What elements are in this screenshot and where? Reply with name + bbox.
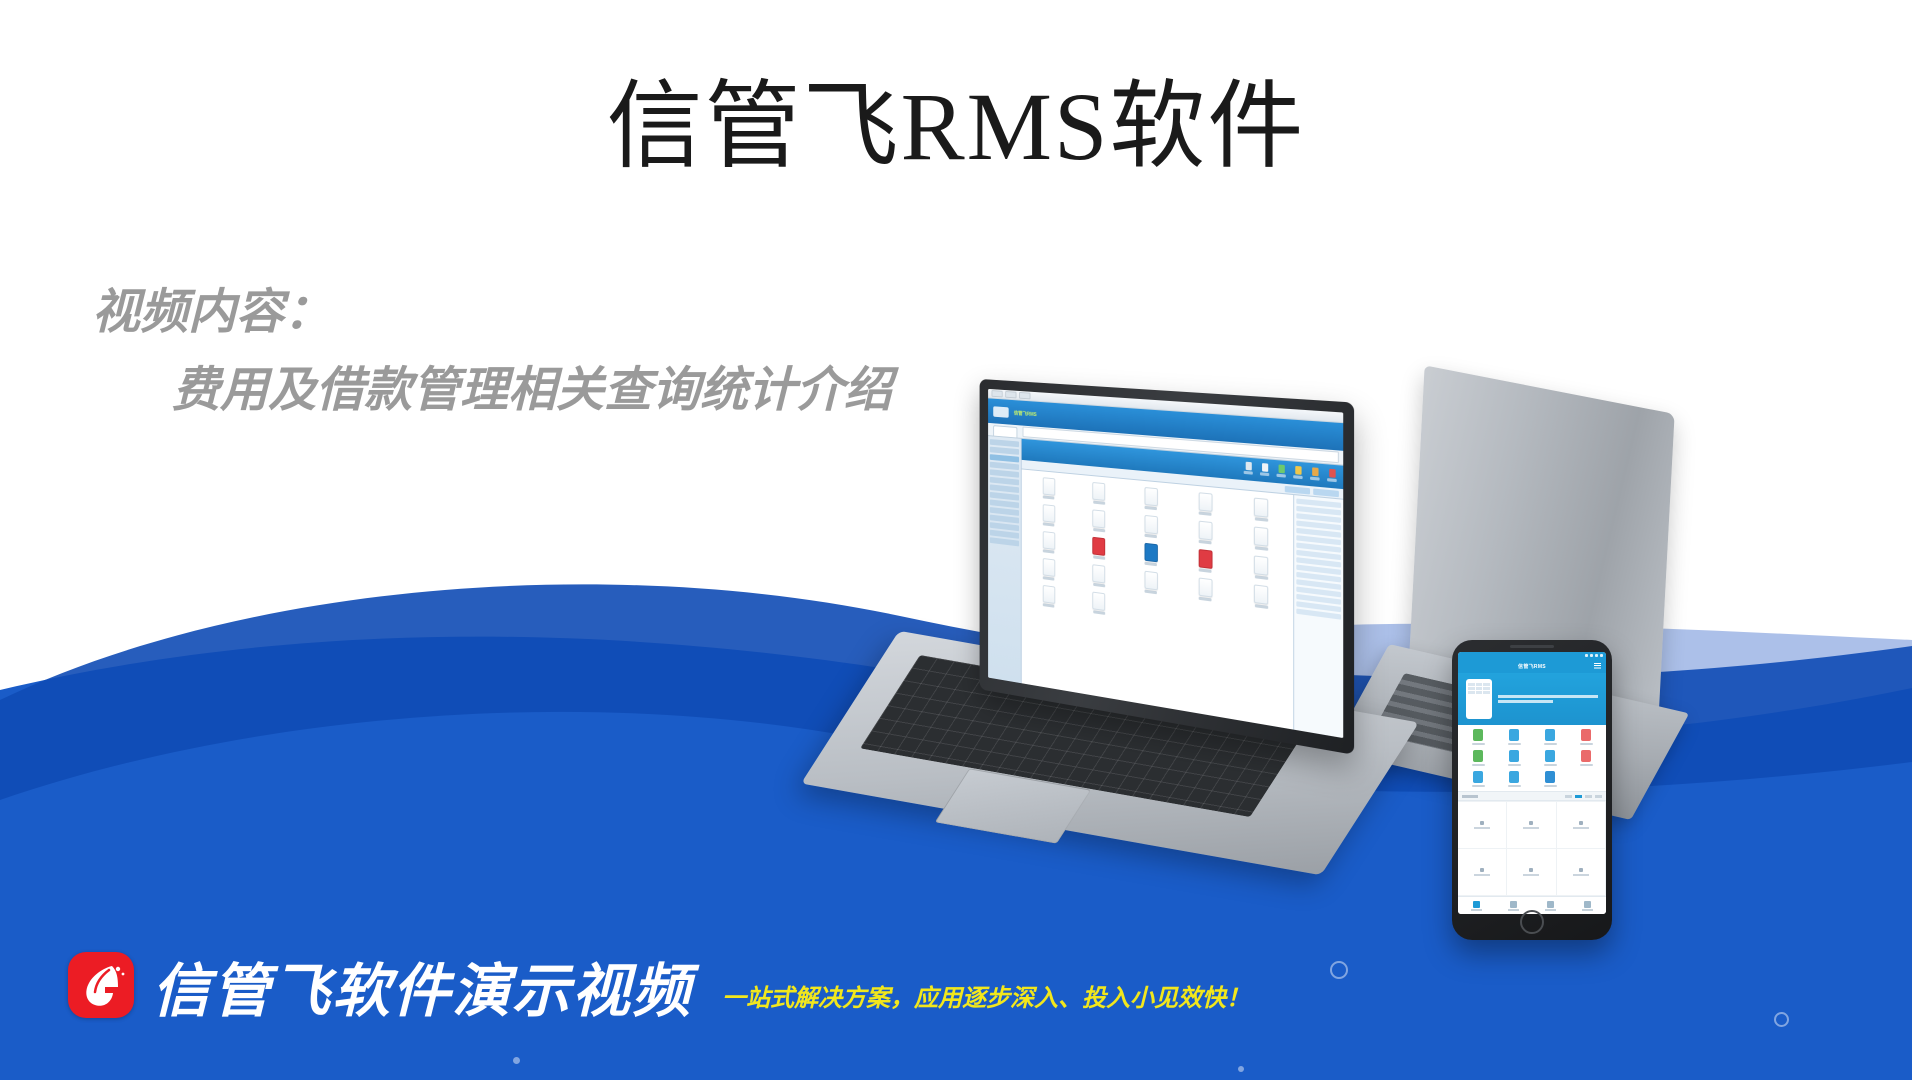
grid-icon-item[interactable] (1127, 485, 1176, 512)
phone-section-header (1458, 791, 1606, 801)
phone-earpiece (1510, 645, 1554, 648)
toolbar-button[interactable] (1244, 461, 1253, 477)
grid-icon-item[interactable] (1180, 519, 1231, 547)
subtitle-label: 视频内容： (92, 280, 892, 344)
grid-icon-item[interactable] (1235, 524, 1288, 553)
toolbar-button[interactable] (1310, 467, 1320, 484)
hamburger-icon[interactable] (1594, 663, 1601, 669)
stat-cell[interactable] (1557, 802, 1606, 849)
app-tab[interactable] (993, 425, 1017, 437)
app-logo-icon (993, 406, 1008, 418)
phone-status-bar (1458, 652, 1606, 659)
phone-icon-grid[interactable] (1458, 725, 1606, 791)
grid-icon-item[interactable] (1076, 508, 1123, 535)
phone-grid-item[interactable] (1497, 771, 1531, 787)
section-title (1462, 795, 1478, 798)
stat-cell[interactable] (1507, 849, 1556, 896)
phone-nav-bar: 信管飞RMS (1458, 659, 1606, 673)
wifi-icon (1590, 654, 1593, 657)
bluetooth-icon (1585, 654, 1588, 657)
phone-device: 信管飞RMS (1452, 640, 1612, 940)
phone-app-title: 信管飞RMS (1518, 663, 1546, 670)
app-icon-grid[interactable] (1022, 469, 1293, 729)
phone-grid-item[interactable] (1461, 729, 1495, 745)
filter-tab[interactable] (1595, 795, 1602, 798)
menu-chip (1005, 391, 1016, 398)
section-filter-tabs[interactable] (1565, 795, 1602, 798)
grid-icon-item[interactable] (1235, 496, 1288, 524)
decor-dot (1774, 1012, 1789, 1027)
laptop-screen: 信管飞RMS (988, 389, 1343, 738)
slide-title: 信管飞RMS软件 (0, 72, 1912, 182)
filter-tab[interactable] (1565, 795, 1572, 798)
stat-cell[interactable] (1458, 802, 1507, 849)
stat-cell[interactable] (1507, 802, 1556, 849)
brand-tagline: 一站式解决方案，应用逐步深入、投入小见效快！ (722, 984, 1250, 1012)
battery-icon (1600, 654, 1603, 657)
app-left-nav[interactable] (988, 436, 1022, 683)
banner-keypad (1468, 683, 1490, 694)
grid-icon-item[interactable] (1076, 589, 1123, 617)
banner-text-lines (1498, 695, 1598, 703)
grid-icon-item[interactable] (1076, 480, 1123, 506)
grid-icon-item[interactable] (1026, 583, 1072, 611)
desktop-app-window: 信管飞RMS (988, 389, 1343, 738)
app-header-title: 信管飞RMS (1014, 409, 1037, 417)
toolbar-button[interactable] (1293, 465, 1302, 482)
phone-grid-item[interactable] (1497, 750, 1531, 766)
phone-grid-item[interactable] (1461, 750, 1495, 766)
app-right-panel[interactable] (1293, 495, 1343, 738)
phone-banner (1458, 673, 1606, 725)
sub-tab[interactable] (1313, 488, 1339, 497)
phone-home-button[interactable] (1520, 910, 1544, 934)
toolbar-button[interactable] (1260, 462, 1269, 478)
grid-icon-item[interactable] (1026, 476, 1072, 502)
presentation-slide: 信管飞RMS软件 视频内容： 费用及借款管理相关查询统计介绍 (0, 0, 1912, 1080)
brand-name: 信管飞软件演示视频 (152, 960, 692, 1022)
phone-grid-item[interactable] (1497, 729, 1531, 745)
phone-stats-grid[interactable] (1458, 801, 1606, 896)
grid-icon-item[interactable] (1127, 513, 1176, 540)
grid-icon-item-highlight[interactable] (1180, 547, 1231, 575)
devices-illustration: 信管飞RMS (860, 372, 1912, 932)
decor-dot (513, 1057, 520, 1064)
grid-icon-item[interactable] (1180, 575, 1231, 604)
nav-item[interactable] (990, 537, 1019, 546)
app-body (988, 436, 1343, 738)
phone-grid-item[interactable] (1533, 750, 1567, 766)
stat-cell[interactable] (1557, 849, 1606, 896)
grid-icon-item[interactable] (1026, 502, 1072, 528)
filter-tab-active[interactable] (1575, 795, 1582, 798)
grid-icon-item[interactable] (1235, 553, 1288, 582)
laptop-lid: 信管飞RMS (980, 379, 1354, 755)
app-main-area (1022, 439, 1344, 738)
grid-icon-item[interactable] (1127, 568, 1176, 596)
grid-icon-item[interactable] (1026, 529, 1072, 556)
grid-icon-item-highlight[interactable] (1127, 541, 1176, 569)
sub-tab[interactable] (1285, 485, 1310, 494)
grid-icon-item[interactable] (1235, 582, 1288, 612)
filter-tab[interactable] (1585, 795, 1592, 798)
subtitle-block: 视频内容： 费用及借款管理相关查询统计介绍 (92, 280, 892, 422)
phone-grid-item[interactable] (1461, 771, 1495, 787)
phone-grid-item-empty (1569, 771, 1603, 787)
toolbar-button[interactable] (1276, 464, 1285, 480)
phone-screen: 信管飞RMS (1458, 652, 1606, 914)
phone-grid-item[interactable] (1533, 771, 1567, 787)
phone-grid-item[interactable] (1569, 729, 1603, 745)
feather-bird-logo-icon (68, 952, 134, 1018)
tab-home[interactable] (1458, 897, 1495, 914)
menu-chip (1019, 392, 1030, 399)
grid-icon-item[interactable] (1076, 562, 1123, 590)
footer-brand: 信管飞软件演示视频 一站式解决方案，应用逐步深入、投入小见效快！ (68, 952, 1250, 1022)
decor-dot (1330, 961, 1348, 979)
subtitle-content: 费用及借款管理相关查询统计介绍 (172, 358, 892, 422)
phone-grid-item[interactable] (1569, 750, 1603, 766)
signal-icon (1595, 654, 1598, 657)
menu-chip (992, 390, 1003, 397)
stat-cell[interactable] (1458, 849, 1507, 896)
app-grid-wrapper (1022, 469, 1344, 738)
grid-icon-item[interactable] (1026, 556, 1072, 583)
grid-icon-item[interactable] (1180, 490, 1231, 517)
banner-device-illustration (1466, 679, 1492, 719)
decor-dot (1238, 1066, 1244, 1072)
tab-profile[interactable] (1569, 897, 1606, 914)
phone-grid-item[interactable] (1533, 729, 1567, 745)
toolbar-button[interactable] (1327, 468, 1337, 485)
grid-icon-item-highlight[interactable] (1076, 535, 1123, 562)
